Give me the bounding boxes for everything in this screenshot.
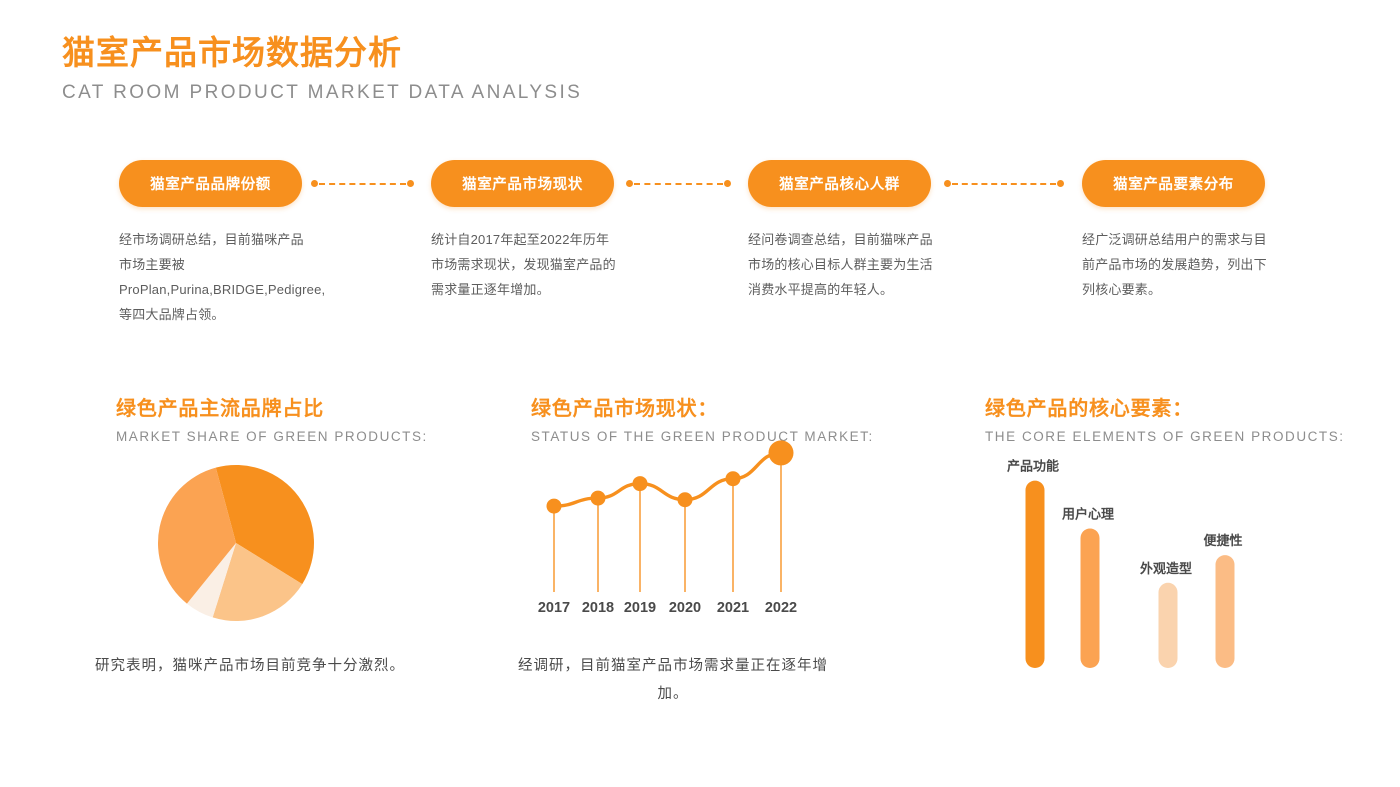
connector-dot-end-icon <box>1057 180 1064 187</box>
connector-dot-start-icon <box>311 180 318 187</box>
section-title-cn: 绿色产品的核心要素： <box>985 392 1345 421</box>
bar-便捷性[interactable] <box>1216 555 1235 668</box>
step-pill-1[interactable]: 猫室产品品牌份额 <box>119 160 302 207</box>
step-pill-4[interactable]: 猫室产品要素分布 <box>1082 160 1265 207</box>
step-pill-2[interactable]: 猫室产品市场现状 <box>431 160 614 207</box>
x-axis-label-2019: 2019 <box>624 600 656 616</box>
slide-canvas: 猫室产品市场数据分析 CAT ROOM PRODUCT MARKET DATA … <box>0 0 1400 787</box>
step-connector-1 <box>311 178 414 189</box>
data-point-2018[interactable] <box>591 491 606 506</box>
bar-chart-svg: 产品功能用户心理外观造型便捷性 <box>980 455 1280 690</box>
connector-dot-end-icon <box>724 180 731 187</box>
section-title-en: MARKET SHARE OF GREEN PRODUCTS: <box>116 429 428 444</box>
connector-dot-start-icon <box>944 180 951 187</box>
data-point-2020[interactable] <box>678 492 693 507</box>
step-description-4: 经广泛调研总结用户的需求与目前产品市场的发展趋势，列出下列核心要素。 <box>1082 227 1267 302</box>
x-axis-label-2022: 2022 <box>765 600 797 616</box>
bar-label-用户心理: 用户心理 <box>1061 507 1114 522</box>
connector-dashed-line-icon <box>634 183 723 185</box>
page-header: 猫室产品市场数据分析 CAT ROOM PRODUCT MARKET DATA … <box>62 32 582 104</box>
x-axis-label-2020: 2020 <box>669 600 701 616</box>
process-steps: 猫室产品品牌份额 经市场调研总结，目前猫咪产品市场主要被ProPlan,Puri… <box>0 160 1400 310</box>
section-title-cn: 绿色产品市场现状： <box>531 392 874 421</box>
bar-label-外观造型: 外观造型 <box>1139 561 1192 576</box>
connector-dot-end-icon <box>407 180 414 187</box>
bar-label-产品功能: 产品功能 <box>1007 459 1059 474</box>
pie-chart <box>100 445 390 645</box>
x-axis-label-2018: 2018 <box>582 600 614 616</box>
line-chart-svg: 201720182019202020212022 <box>520 440 830 655</box>
step-description-2: 统计自2017年起至2022年历年市场需求现状，发现猫室产品的需求量正逐年增加。 <box>431 227 616 302</box>
trend-line <box>554 453 781 506</box>
data-point-2022[interactable] <box>769 440 794 465</box>
bar-用户心理[interactable] <box>1081 529 1100 669</box>
line-chart-caption: 经调研，目前猫室产品市场需求量正在逐年增加。 <box>508 652 838 708</box>
data-point-2017[interactable] <box>547 499 562 514</box>
connector-dashed-line-icon <box>952 183 1056 185</box>
bar-外观造型[interactable] <box>1159 583 1178 668</box>
pie-chart-caption: 研究表明，猫咪产品市场目前竞争十分激烈。 <box>85 652 415 680</box>
step-pill-3[interactable]: 猫室产品核心人群 <box>748 160 931 207</box>
step-description-3: 经问卷调查总结，目前猫咪产品市场的核心目标人群主要为生活消费水平提高的年轻人。 <box>748 227 933 302</box>
section-title-cn: 绿色产品主流品牌占比 <box>116 392 428 421</box>
x-axis-label-2021: 2021 <box>717 600 749 616</box>
line-chart: 201720182019202020212022 <box>520 440 830 655</box>
section-title-en: THE CORE ELEMENTS OF GREEN PRODUCTS: <box>985 429 1345 444</box>
step-card-4: 猫室产品要素分布 经广泛调研总结用户的需求与目前产品市场的发展趋势，列出下列核心… <box>1078 160 1378 302</box>
step-connector-2 <box>626 178 731 189</box>
data-point-2019[interactable] <box>633 476 648 491</box>
section-heading-market-share: 绿色产品主流品牌占比 MARKET SHARE OF GREEN PRODUCT… <box>116 392 428 444</box>
page-title: 猫室产品市场数据分析 <box>62 32 582 73</box>
step-connector-3 <box>944 178 1064 189</box>
x-axis-label-2017: 2017 <box>538 600 570 616</box>
data-point-2021[interactable] <box>726 471 741 486</box>
section-heading-market-status: 绿色产品市场现状： STATUS OF THE GREEN PRODUCT MA… <box>531 392 874 444</box>
section-heading-core-elements: 绿色产品的核心要素： THE CORE ELEMENTS OF GREEN PR… <box>985 392 1345 444</box>
connector-dashed-line-icon <box>319 183 406 185</box>
bar-chart: 产品功能用户心理外观造型便捷性 <box>980 455 1280 690</box>
pie-chart-svg <box>100 445 390 645</box>
connector-dot-start-icon <box>626 180 633 187</box>
bar-label-便捷性: 便捷性 <box>1203 533 1242 548</box>
page-subtitle: CAT ROOM PRODUCT MARKET DATA ANALYSIS <box>62 82 582 104</box>
step-description-1: 经市场调研总结，目前猫咪产品市场主要被ProPlan,Purina,BRIDGE… <box>119 227 304 327</box>
bar-产品功能[interactable] <box>1026 481 1045 668</box>
